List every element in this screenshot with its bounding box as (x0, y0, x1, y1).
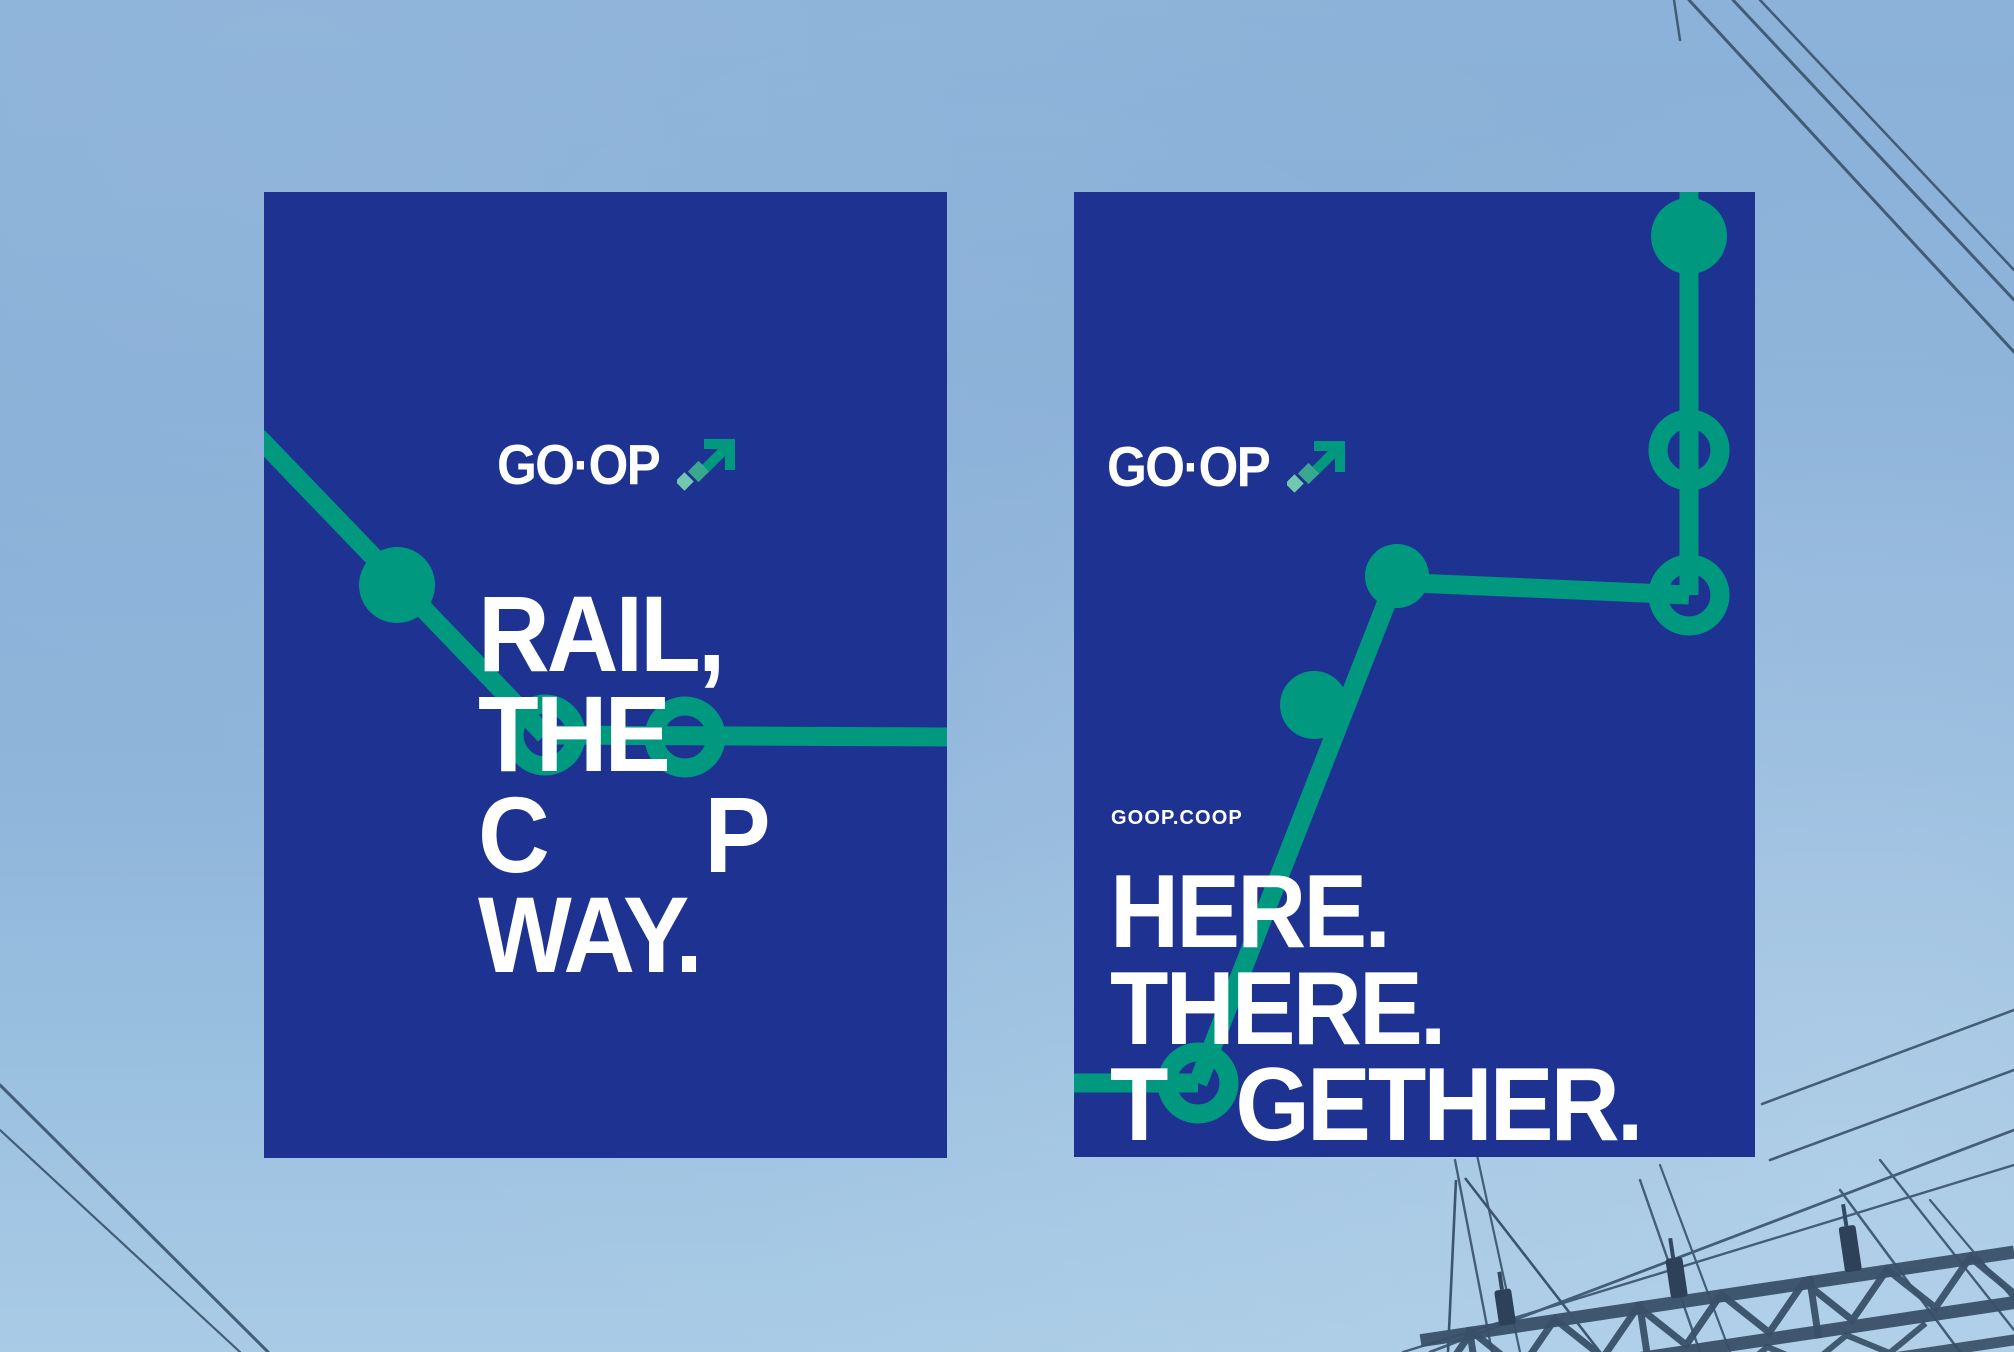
headline-line-4: WAY. (478, 885, 771, 985)
headline-letter-t: T (1110, 1047, 1164, 1157)
poster-url-right: GOOP.COOP (1111, 807, 1243, 830)
screenshot-root: GO·OP RAIL, THE COOP WAY. GOOP.COOP (0, 0, 2014, 1352)
headline-line-1: RAIL, (478, 584, 771, 684)
poster-here-there-together[interactable]: GO·OP GOOP.COOP HERE. THERE. TOGETHER. (1074, 192, 1755, 1157)
station-dot-terminus (1651, 198, 1727, 274)
headline-line-2: THE (478, 684, 771, 784)
headline-ring-gap: O (1164, 1047, 1236, 1157)
route-line-upper-diagonal (1392, 582, 1689, 595)
brand-logo-right[interactable]: GO·OP (1107, 439, 1349, 497)
headline-line-2: THERE. (1110, 961, 1641, 1058)
headline-left: RAIL, THE COOP WAY. (478, 584, 796, 986)
arrow-up-right-icon (1287, 439, 1349, 497)
station-dot-filled (359, 547, 435, 623)
logo-wordmark: GO·OP (1107, 439, 1269, 496)
headline-letter-p: P (704, 774, 770, 895)
logo-wordmark: GO·OP (497, 437, 659, 494)
poster-rail-the-co-op-way[interactable]: GO·OP RAIL, THE COOP WAY. GOOP.COOP (264, 192, 947, 1158)
station-dot-mid (1280, 671, 1348, 739)
headline-line-3: TOGETHER. (1110, 1057, 1641, 1154)
station-dot-interchange (1365, 544, 1429, 608)
headline-right: HERE. THERE. TOGETHER. (1110, 864, 1687, 1154)
headline-word-gether: GETHER. (1235, 1047, 1640, 1157)
brand-logo-left[interactable]: GO·OP (497, 437, 739, 495)
arrow-up-right-icon (677, 437, 739, 495)
headline-line-1: HERE. (1110, 864, 1641, 961)
headline-line-3: COOP (478, 785, 771, 885)
